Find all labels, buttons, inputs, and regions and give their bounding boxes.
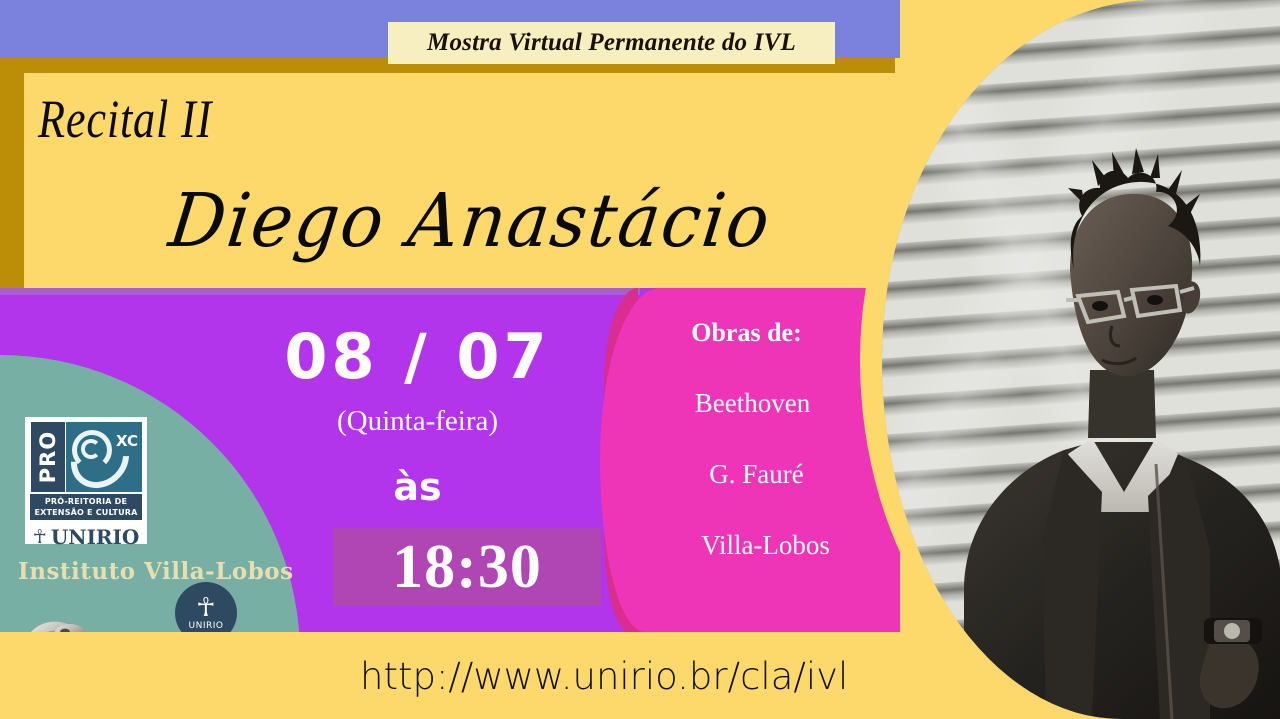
performer-name: Diego Anastácio xyxy=(165,178,776,264)
unirio-seal-label: UNIRIO xyxy=(189,621,224,631)
event-time-box: 18:30 xyxy=(333,528,601,606)
performer-photo-area xyxy=(860,0,1280,719)
date-panel-top-edge xyxy=(0,288,640,295)
unirio-wordmark: UNIRIO xyxy=(51,525,139,549)
proexc-unirio-lockup: ☥ UNIRIO xyxy=(30,525,142,549)
at-word: às xyxy=(245,465,590,509)
unirio-emblem-icon: ☥ xyxy=(33,528,47,546)
proexc-subtitle-line1: PRÓ-REITORIA DE xyxy=(30,496,142,507)
performer-figure xyxy=(942,120,1280,719)
proexc-xc-label: XC xyxy=(116,432,138,450)
proexc-spiral-inner-icon xyxy=(81,439,101,459)
proexc-subtitle-line2: EXTENSÃO E CULTURA xyxy=(30,507,142,518)
event-poster: Mostra Virtual Permanente do IVL Recital… xyxy=(0,0,1280,719)
performer-photo xyxy=(882,0,1280,719)
proexc-mark-icon: PRO XC xyxy=(30,422,142,492)
proexc-pro-label: PRO xyxy=(36,431,60,483)
works-item: Beethoven xyxy=(632,388,873,419)
event-weekday: (Quinta-feira) xyxy=(245,405,590,438)
ivl-title: Instituto Villa-Lobos xyxy=(18,558,294,585)
event-date: 08 / 07 xyxy=(245,320,590,393)
works-item: Villa-Lobos xyxy=(658,530,873,561)
recital-number: Recital II xyxy=(38,88,212,150)
works-list: Obras de: Beethoven G. Fauré Villa-Lobos xyxy=(638,318,873,561)
proexc-subtitle: PRÓ-REITORIA DE EXTENSÃO E CULTURA xyxy=(30,494,142,520)
gold-left-stripe xyxy=(0,58,24,298)
works-heading: Obras de: xyxy=(620,318,873,348)
event-time: 18:30 xyxy=(392,532,542,603)
works-item: G. Fauré xyxy=(640,459,873,490)
website-url[interactable]: http://www.unirio.br/cla/ivl xyxy=(360,655,848,698)
unirio-seal-emblem-icon: ☥ xyxy=(196,596,215,620)
proexc-logo: PRO XC PRÓ-REITORIA DE EXTENSÃO E CULTUR… xyxy=(25,417,147,544)
exhibition-banner-label: Mostra Virtual Permanente do IVL xyxy=(427,29,796,57)
exhibition-banner: Mostra Virtual Permanente do IVL xyxy=(388,22,835,64)
